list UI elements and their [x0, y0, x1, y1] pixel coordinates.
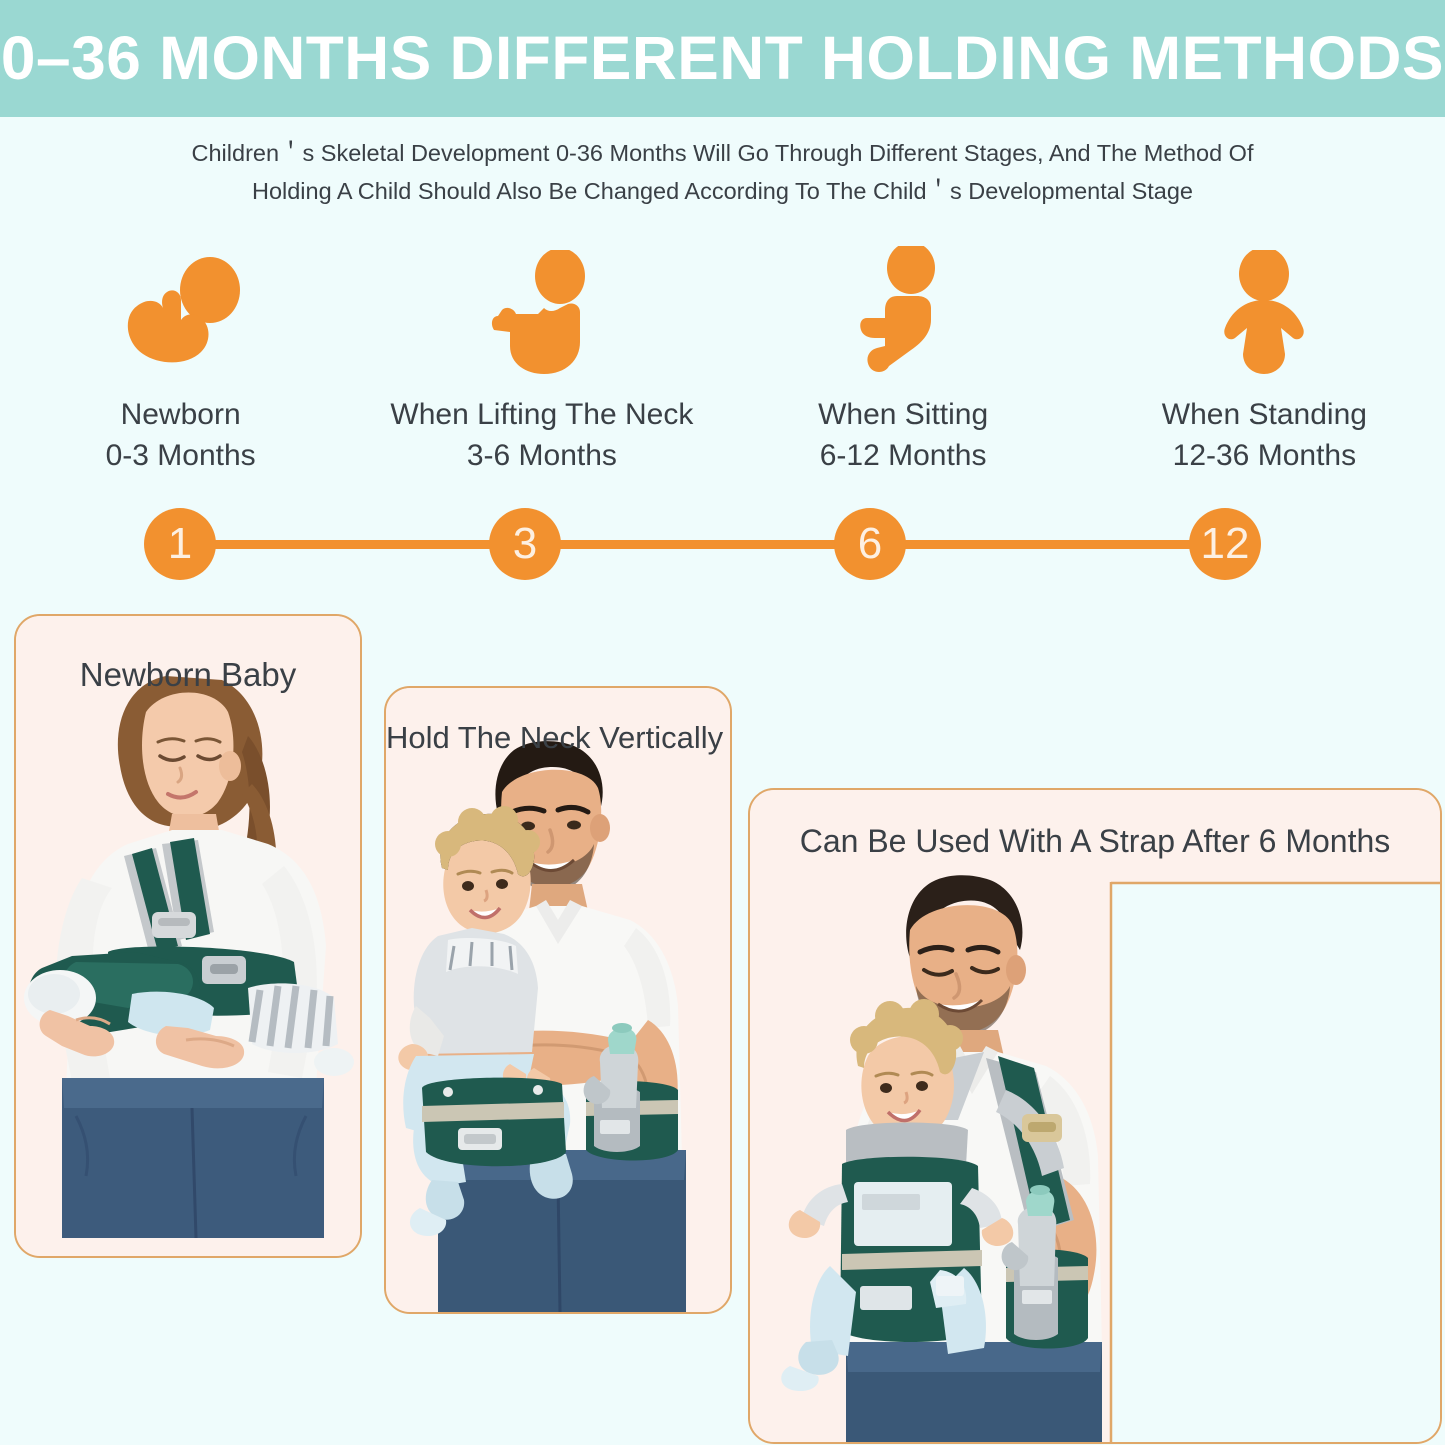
stage-sitting: When Sitting 6-12 Months	[723, 246, 1084, 486]
stage-age: 3-6 Months	[390, 435, 693, 476]
baby-lifting-neck-icon	[482, 246, 602, 376]
header-band: 0–36 MONTHS DIFFERENT HOLDING METHODS	[0, 0, 1445, 117]
photo-card-hold-neck: Hold The Neck Vertically (3-6 Months)	[384, 686, 732, 1314]
age-timeline: 1 3 6 12	[0, 506, 1445, 582]
photo-mother-newborn	[16, 616, 360, 1256]
photo-father-toddler-hipseat	[386, 688, 730, 1312]
stage-age: 6-12 Months	[818, 435, 988, 476]
baby-standing-icon	[1209, 246, 1319, 376]
stage-name: When Lifting The Neck	[390, 398, 693, 431]
timeline-rail	[180, 540, 1225, 549]
stage-row: Newborn 0-3 Months When Lifting The Neck…	[0, 246, 1445, 486]
stage-label: When Lifting The Neck 3-6 Months	[390, 394, 693, 476]
stage-label: When Standing 12-36 Months	[1162, 394, 1367, 476]
stage-name: When Standing	[1162, 398, 1367, 431]
photo-father-toddler-strap	[750, 790, 1440, 1442]
baby-lying-icon	[115, 246, 247, 376]
infographic-page: 0–36 MONTHS DIFFERENT HOLDING METHODS Ch…	[0, 0, 1445, 1445]
timeline-node-6: 6	[834, 508, 906, 580]
timeline-node-1: 1	[144, 508, 216, 580]
stage-lifting-neck: When Lifting The Neck 3-6 Months	[361, 246, 722, 486]
timeline-node-12: 12	[1189, 508, 1261, 580]
stage-label: When Sitting 6-12 Months	[818, 394, 988, 476]
stage-name: When Sitting	[818, 398, 988, 431]
timeline-node-3: 3	[489, 508, 561, 580]
page-title: 0–36 MONTHS DIFFERENT HOLDING METHODS	[1, 28, 1444, 89]
baby-sitting-icon	[853, 246, 953, 376]
stage-standing: When Standing 12-36 Months	[1084, 246, 1445, 486]
stage-label: Newborn 0-3 Months	[106, 394, 256, 476]
photo-card-newborn: Newborn Baby	[14, 614, 362, 1258]
subtitle-line-1: Children＇s Skeletal Development 0-36 Mon…	[0, 134, 1445, 172]
stage-age: 12-36 Months	[1162, 435, 1367, 476]
subtitle-line-2: Holding A Child Should Also Be Changed A…	[0, 172, 1445, 210]
subtitle: Children＇s Skeletal Development 0-36 Mon…	[0, 134, 1445, 210]
stage-age: 0-3 Months	[106, 435, 256, 476]
stage-newborn: Newborn 0-3 Months	[0, 246, 361, 486]
stage-name: Newborn	[121, 398, 241, 431]
photo-card-strap: Can Be Used With A Strap After 6 Months	[748, 788, 1442, 1444]
